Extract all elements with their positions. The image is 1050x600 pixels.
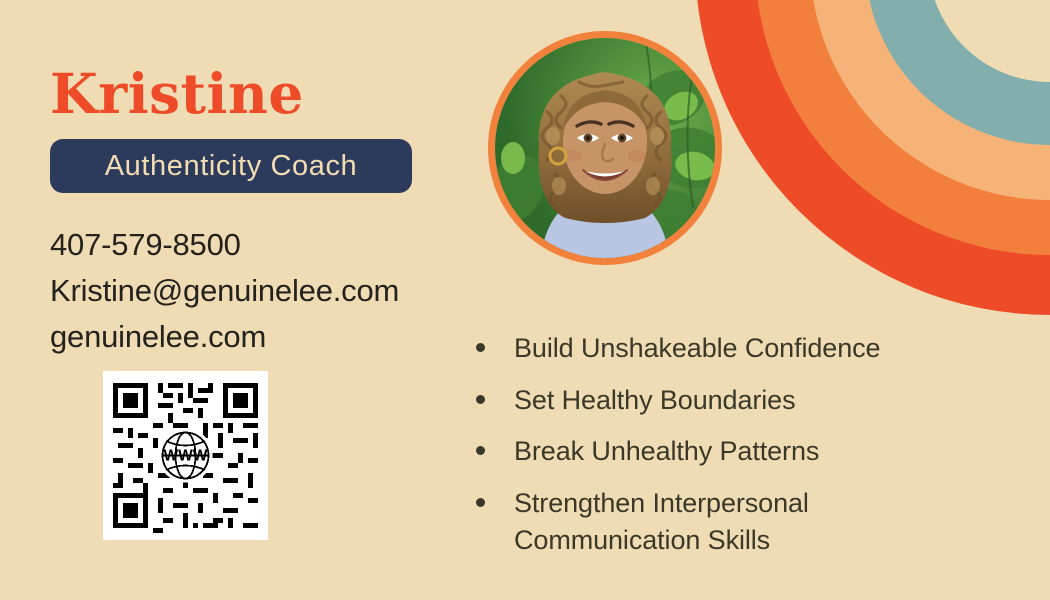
avatar — [488, 31, 722, 265]
rainbow-band-peach — [810, 0, 1050, 200]
contact-info: 407-579-8500 Kristine@genuinelee.com gen… — [50, 222, 399, 361]
list-item: Build Unshakeable Confidence — [476, 330, 976, 367]
rainbow-band-orange — [755, 0, 1050, 255]
rainbow-band-teal — [865, 0, 1050, 145]
bullet-dot-icon — [476, 395, 485, 404]
globe-www-icon: WWW — [159, 429, 213, 483]
benefits-list: Build Unshakeable Confidence Set Healthy… — [476, 330, 976, 574]
page-title: Kristine — [50, 66, 304, 121]
list-item: Set Healthy Boundaries — [476, 382, 976, 419]
portrait-illustration — [495, 38, 715, 258]
qr-code[interactable]: WWW — [103, 371, 268, 540]
list-item-label: Strengthen Interpersonal Communication S… — [514, 485, 894, 558]
bullet-dot-icon — [476, 446, 485, 455]
rainbow-inner-cutout — [928, 0, 1050, 82]
title-badge-label: Authenticity Coach — [105, 150, 358, 183]
list-item-label: Build Unshakeable Confidence — [514, 330, 880, 367]
website-url[interactable]: genuinelee.com — [50, 314, 399, 360]
business-card: Kristine Authenticity Coach 407-579-8500… — [0, 0, 1050, 600]
qr-center-label: WWW — [164, 447, 208, 464]
list-item-label: Set Healthy Boundaries — [514, 382, 795, 419]
qr-code-graphic: WWW — [103, 371, 268, 540]
phone-number[interactable]: 407-579-8500 — [50, 222, 399, 268]
list-item-label: Break Unhealthy Patterns — [514, 433, 819, 470]
email-address[interactable]: Kristine@genuinelee.com — [50, 268, 399, 314]
bullet-dot-icon — [476, 498, 485, 507]
list-item: Strengthen Interpersonal Communication S… — [476, 485, 976, 558]
bullet-dot-icon — [476, 343, 485, 352]
rainbow-band-red — [695, 0, 1050, 315]
status-badge: Authenticity Coach — [50, 139, 412, 193]
list-item: Break Unhealthy Patterns — [476, 433, 976, 470]
